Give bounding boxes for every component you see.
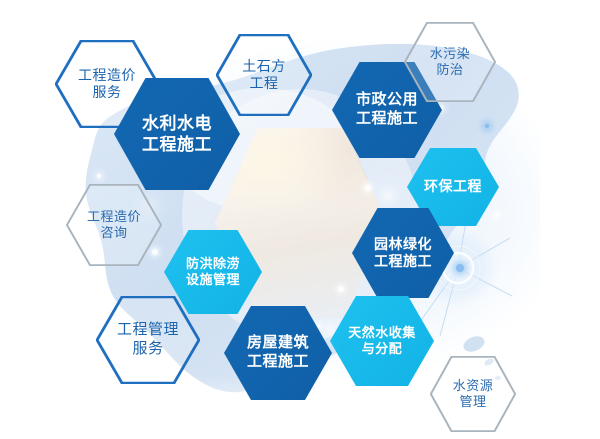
hexagon-label: 水污染 防治 [430,46,471,79]
hex-water-resources-management[interactable]: 水资源 管理 [430,356,516,432]
infographic-canvas: 工程造价 服务土石方 工程市政公用 工程施工水污染 防治水利水电 工程施工环保工… [0,0,600,439]
glow-dot [353,396,357,400]
glow-dot [495,213,499,217]
hex-cost-estimation-consulting[interactable]: 工程造价 咨询 [66,184,162,266]
hexagon-label: 工程管理 服务 [117,321,179,359]
hexagon-label: 土石方 工程 [242,58,286,93]
hexagon-label: 天然水收集 与分配 [348,325,416,358]
glow-dot [265,409,271,415]
glow-dot [97,174,101,178]
hexagon-label: 环保工程 [424,178,482,196]
glow-dot [388,406,396,414]
hexagon-label: 房屋建筑 工程施工 [247,334,309,372]
hexagon-label: 水资源 管理 [453,378,494,411]
hex-water-pollution-control[interactable]: 水污染 防治 [404,22,496,102]
hexagon-label: 防洪除涝 设施管理 [186,256,240,289]
hex-building-construction-engineering[interactable]: 房屋建筑 工程施工 [224,306,332,400]
hex-project-management-service[interactable]: 工程管理 服务 [96,296,200,384]
hex-earthwork-engineering[interactable]: 土石方 工程 [216,34,312,116]
glow-dot [485,124,489,128]
hexagon-label: 水利水电 工程施工 [142,113,212,156]
glow-dot [456,264,464,272]
hexagon-label: 园林绿化 工程施工 [374,236,432,271]
hexagon-label: 工程造价 服务 [78,67,136,102]
hexagon-label: 工程造价 咨询 [87,209,141,242]
